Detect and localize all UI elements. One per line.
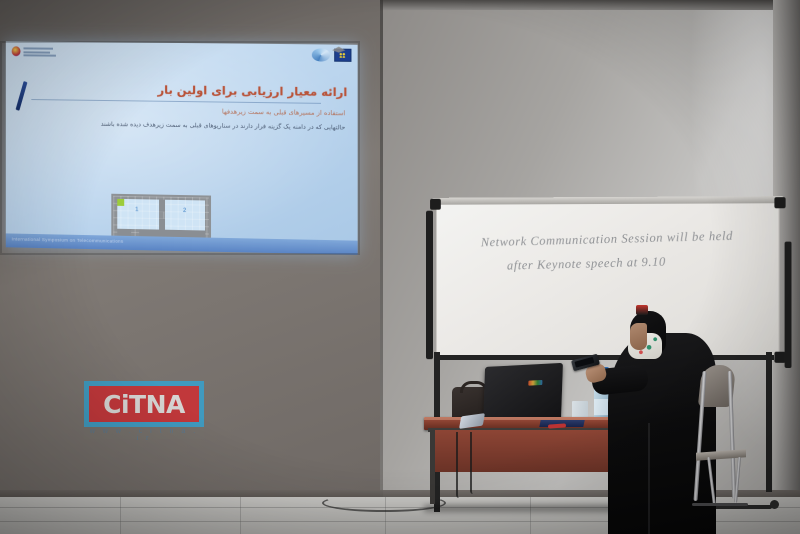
slide-footer-text: International Symposium on Telecommunica… bbox=[12, 236, 124, 243]
presenter-hair-clip bbox=[636, 305, 648, 315]
floor-grout-line bbox=[120, 497, 121, 534]
chador-fold bbox=[648, 423, 650, 534]
citna-url-text: w w w . c i t n a . i r bbox=[86, 428, 202, 442]
monitor[interactable] bbox=[483, 363, 563, 425]
presenter-face bbox=[630, 323, 647, 350]
chair-foot-rail bbox=[692, 503, 748, 506]
eu-logo-cap-icon bbox=[332, 47, 345, 53]
eu-flag-logo-icon bbox=[334, 49, 351, 62]
slide-body: استفاده از مسیرهای قبلی به سمت زیرهدفها … bbox=[45, 105, 345, 133]
ceiling-edge bbox=[380, 0, 800, 10]
maze-wall bbox=[159, 200, 165, 212]
citna-brand-text: CiTNA bbox=[103, 392, 185, 417]
desk-leg bbox=[430, 430, 435, 504]
maze-room-label: 2 bbox=[183, 208, 186, 214]
floor-cable-loop bbox=[322, 494, 446, 512]
maze-wall bbox=[159, 219, 165, 230]
maze-goal-start bbox=[117, 199, 124, 206]
whiteboard-stand-leg bbox=[766, 352, 772, 492]
chair-leg bbox=[734, 457, 741, 503]
symposium-logo-text bbox=[23, 46, 55, 56]
wall-corner-seam bbox=[380, 0, 383, 500]
projected-slide[interactable]: ارائه معیار ارزیابی برای اولین بار استفا… bbox=[6, 41, 358, 255]
itu-logo-icon bbox=[312, 48, 330, 61]
floor-grout-line bbox=[240, 497, 241, 534]
screenshot-scene: ارائه معیار ارزیابی برای اولین بار استفا… bbox=[0, 0, 800, 534]
slide-title-underline bbox=[31, 99, 321, 104]
power-cable bbox=[470, 432, 473, 494]
whiteboard-note: Network Communication Session will be he… bbox=[481, 224, 737, 278]
citna-watermark: CiTNA w w w . c i t n a . i r bbox=[84, 381, 204, 439]
symposium-logo-icon bbox=[12, 46, 21, 56]
maze-room-label: 1 bbox=[135, 207, 138, 213]
monitor-brand-badge-icon bbox=[528, 380, 542, 386]
chair-leg bbox=[707, 457, 716, 505]
citna-logo-box: CiTNA bbox=[84, 381, 204, 427]
whiteboard-corner bbox=[430, 199, 441, 210]
slide-title: ارائه معیار ارزیابی برای اولین بار bbox=[67, 82, 348, 100]
whiteboard-corner bbox=[774, 197, 785, 208]
symposium-logo bbox=[12, 46, 56, 56]
power-cable bbox=[456, 432, 459, 498]
slide-bullet-2: حالتهایی که در دامنه یک گزینه فرار دارند… bbox=[45, 119, 345, 133]
whiteboard-right-post bbox=[785, 242, 792, 368]
blue-pen-icon bbox=[16, 81, 28, 111]
slide-bullet-1: استفاده از مسیرهای قبلی به سمت زیرهدفها bbox=[45, 105, 345, 117]
slide-header-logos bbox=[312, 48, 352, 62]
whiteboard-caster bbox=[770, 500, 779, 509]
whiteboard-left-post bbox=[426, 211, 433, 359]
folding-chair[interactable] bbox=[686, 365, 756, 533]
